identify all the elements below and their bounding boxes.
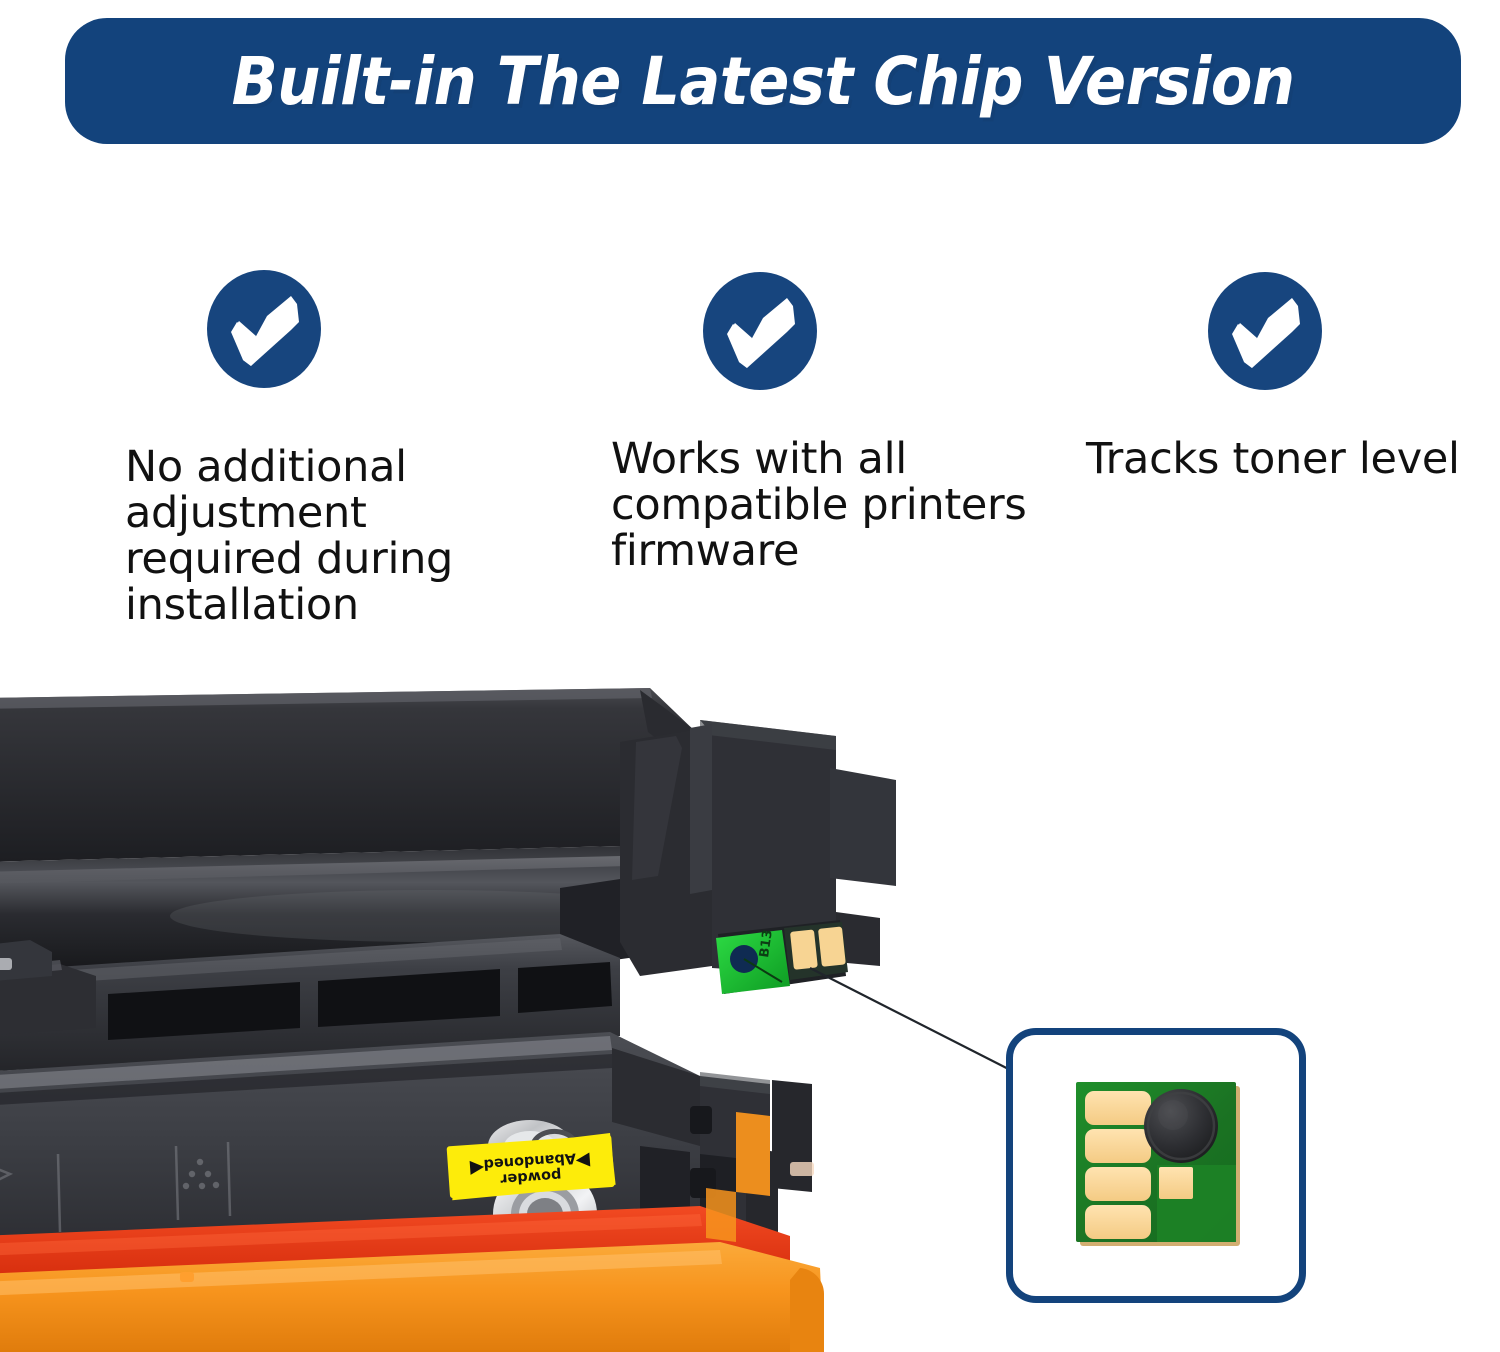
- page-title: Built-in The Latest Chip Version: [232, 43, 1295, 120]
- chip-closeup-inset: [1006, 1028, 1306, 1303]
- toner-chip-closeup-icon: [1073, 1079, 1263, 1269]
- callout-leader-line: [780, 940, 1040, 1110]
- feature-label-3: Tracks toner level: [1086, 436, 1500, 482]
- check-circle-icon: [1208, 272, 1322, 390]
- feature-label-2: Works with all compatible printers firmw…: [611, 436, 1041, 574]
- check-circle-icon: [207, 270, 321, 388]
- check-circle-icon: [703, 272, 817, 390]
- feature-label-1: No additional adjustment required during…: [125, 444, 525, 628]
- header-banner: Built-in The Latest Chip Version: [65, 18, 1461, 144]
